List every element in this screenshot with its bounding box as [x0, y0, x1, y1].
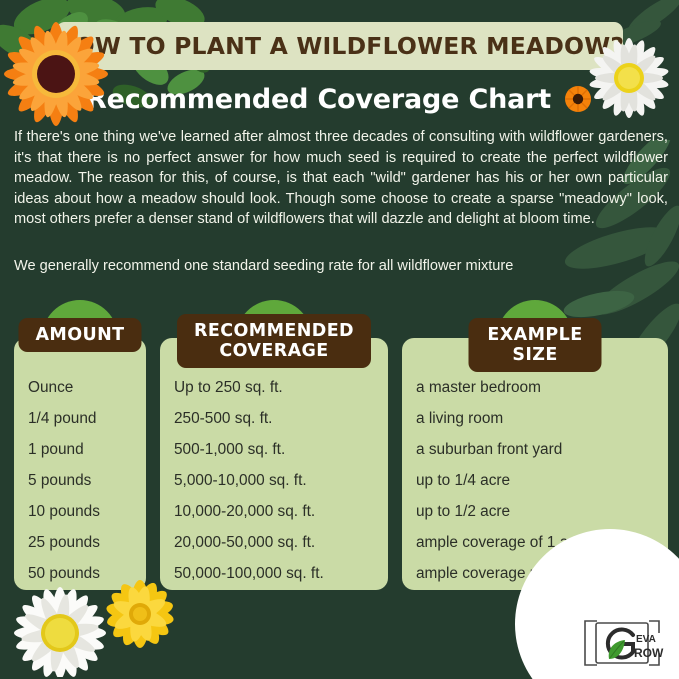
- table-cell: 10,000-20,000 sq. ft.: [174, 496, 374, 527]
- column-header-recommended-coverage: RECOMMENDED COVERAGE: [177, 314, 371, 368]
- table-cell: 20,000-50,000 sq. ft.: [174, 527, 374, 558]
- intro-paragraph: If there's one thing we've learned after…: [14, 127, 668, 230]
- column-cells-amount: Ounce 1/4 pound 1 pound 5 pounds 10 poun…: [14, 372, 146, 589]
- brand-line-2: ROW: [634, 646, 664, 660]
- page-title: HOW TO PLANT A WILDFLOWER MEADOW?: [55, 32, 624, 60]
- table-cell: 25 pounds: [28, 527, 132, 558]
- column-header-example-size: EXAMPLE SIZE: [469, 318, 602, 372]
- table-cell: 5 pounds: [28, 465, 132, 496]
- coreopsis-flower-icon: [100, 575, 180, 653]
- seeding-rate-note: We generally recommend one standard seed…: [14, 256, 668, 277]
- page-subtitle: Recommended Coverage Chart: [86, 84, 551, 115]
- table-cell: 1 pound: [28, 434, 132, 465]
- table-cell: 1/4 pound: [28, 403, 132, 434]
- column-amount: AMOUNT Ounce 1/4 pound 1 pound 5 pounds …: [14, 300, 146, 590]
- column-recommended-coverage: RECOMMENDED COVERAGE Up to 250 sq. ft. 2…: [160, 300, 388, 590]
- table-cell: 50,000-100,000 sq. ft.: [174, 558, 374, 589]
- table-cell: a living room: [416, 403, 654, 434]
- infographic-canvas: HOW TO PLANT A WILDFLOWER MEADOW? Recomm…: [0, 0, 679, 679]
- table-cell: a master bedroom: [416, 372, 654, 403]
- table-cell: 500-1,000 sq. ft.: [174, 434, 374, 465]
- title-banner: HOW TO PLANT A WILDFLOWER MEADOW?: [56, 22, 623, 70]
- brand-line-1: EVA: [636, 634, 656, 645]
- table-cell: 10 pounds: [28, 496, 132, 527]
- table-cell: up to 1/2 acre: [416, 496, 654, 527]
- calendula-flower-icon: [0, 12, 118, 136]
- table-cell: Up to 250 sq. ft.: [174, 372, 374, 403]
- table-cell: up to 1/4 acre: [416, 465, 654, 496]
- table-cell: Ounce: [28, 372, 132, 403]
- column-cells-recommended-coverage: Up to 250 sq. ft. 250-500 sq. ft. 500-1,…: [160, 372, 388, 589]
- table-cell: 5,000-10,000 sq. ft.: [174, 465, 374, 496]
- table-cell: 250-500 sq. ft.: [174, 403, 374, 434]
- eva-grow-logo[interactable]: EVA ROW: [579, 615, 665, 671]
- daisy-flower-icon: [6, 577, 114, 677]
- table-cell: a suburban front yard: [416, 434, 654, 465]
- daisy-flower-icon: [581, 30, 677, 126]
- column-header-amount: AMOUNT: [18, 318, 141, 352]
